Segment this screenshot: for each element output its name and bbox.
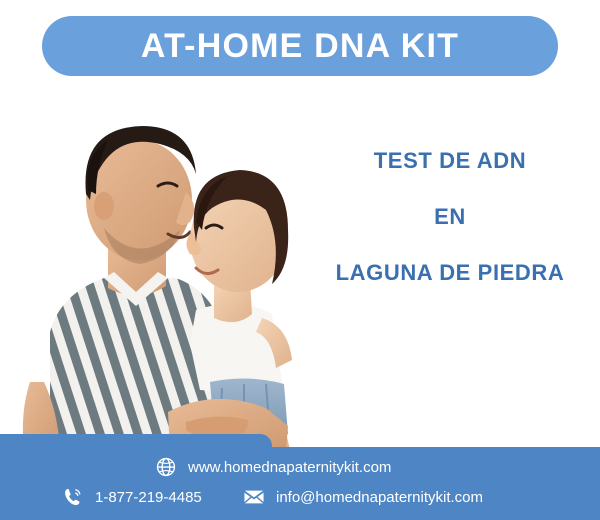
headline-block: TEST DE ADN EN LAGUNA DE PIEDRA	[300, 150, 600, 284]
email-text: info@homednapaternitykit.com	[276, 490, 483, 505]
phone-text: 1-877-219-4485	[95, 490, 202, 505]
globe-icon	[155, 456, 177, 478]
header-banner: AT-HOME DNA KIT	[42, 16, 558, 76]
flyer-canvas: AT-HOME DNA KIT	[0, 0, 600, 520]
footer-phone[interactable]: 1-877-219-4485	[62, 486, 202, 508]
family-photo	[0, 82, 300, 450]
family-photo-illustration	[0, 82, 300, 450]
footer-email[interactable]: info@homednapaternitykit.com	[243, 486, 483, 508]
website-text: www.homednapaternitykit.com	[188, 460, 391, 475]
envelope-icon	[243, 486, 265, 508]
headline-line-2: EN	[300, 206, 600, 228]
page-title: AT-HOME DNA KIT	[141, 29, 459, 63]
phone-icon	[62, 486, 84, 508]
headline-line-3: LAGUNA DE PIEDRA	[300, 262, 600, 284]
footer-website[interactable]: www.homednapaternitykit.com	[155, 456, 391, 478]
headline-line-1: TEST DE ADN	[300, 150, 600, 172]
